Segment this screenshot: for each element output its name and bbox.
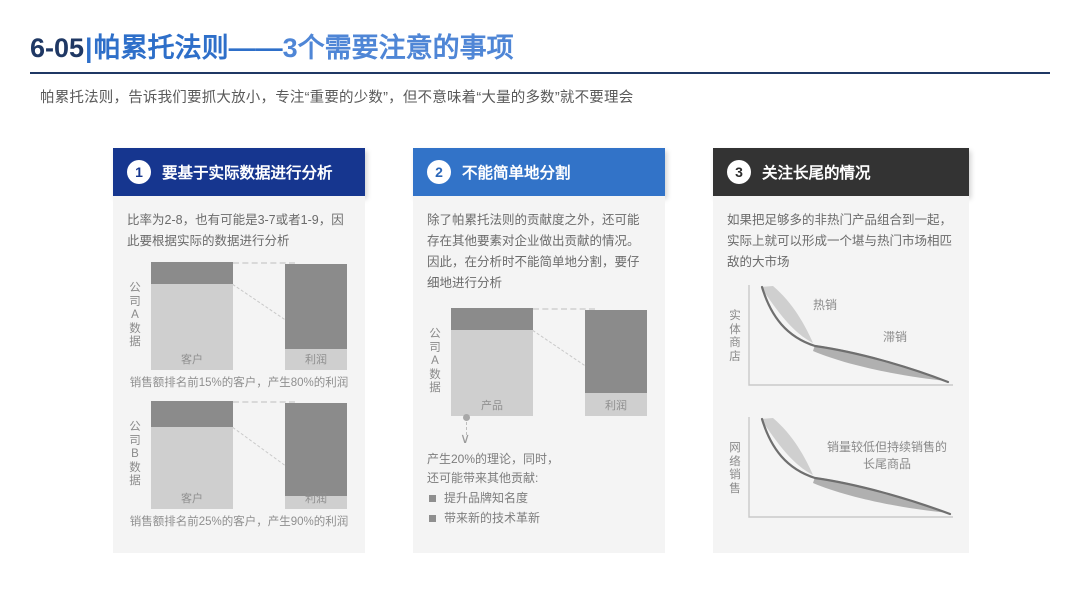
card-2-chart-bar-profit: 利润 xyxy=(585,310,647,416)
card-1-chart-a-caption: 销售额排名前15%的客户，产生80%的利润 xyxy=(127,375,351,391)
page-subtitle: 帕累托法则，告诉我们要抓大放小，专注“重要的少数”，但不意味着“大量的多数”就不… xyxy=(40,86,633,107)
card-2-chart-plot: 产品 利润 xyxy=(447,308,651,416)
card-2-chart-bar-product: 产品 xyxy=(451,308,533,416)
card-2-bullet-2: 带来新的技术革新 xyxy=(427,508,651,528)
card-2: 2 不能简单地分割 除了帕累托法则的贡献度之外，还可能存在其他要素对企业做出贡献… xyxy=(413,148,665,553)
page-title-main: 帕累托法则—— xyxy=(94,33,283,63)
card-1-chart-a-ylabel: 公司A数据 xyxy=(127,282,143,350)
card-1-chart-a-bar-customers-label: 客户 xyxy=(151,351,233,367)
card-1-chart-a-bar-customers: 客户 xyxy=(151,262,233,370)
card-1-chart-a: 公司A数据 客户 利润 xyxy=(127,262,351,370)
card-1-chart-a-bar-profit-label: 利润 xyxy=(285,351,347,367)
card-2-note-line-1: 产生20%的理论，同时， xyxy=(427,450,651,469)
page-title: 6-05|帕累托法则——3个需要注意的事项 xyxy=(30,26,514,65)
card-1-chart-a-plot: 客户 利润 xyxy=(147,262,351,370)
card-3-body: 如果把足够多的非热门产品组合到一起，实际上就可以形成一个堪与热门市场相匹敌的大市… xyxy=(713,196,969,553)
page-title-number: 6-05 xyxy=(30,33,84,63)
card-1-chart-b-bar-profit: 利润 xyxy=(285,403,347,509)
card-1-chart-b-bar-profit-label: 利润 xyxy=(285,490,347,506)
card-3-chart-physical-ylabel: 实体商店 xyxy=(727,310,743,364)
card-3-chart-physical-label-cold: 滞销 xyxy=(883,329,907,346)
card-1-body: 比率为2-8，也有可能是3-7或者1-9，因此要根据实际的数据进行分析 公司A数… xyxy=(113,196,365,553)
card-1: 1 要基于实际数据进行分析 比率为2-8，也有可能是3-7或者1-9，因此要根据… xyxy=(113,148,365,553)
card-1-header: 1 要基于实际数据进行分析 xyxy=(113,148,365,196)
card-3-title: 关注长尾的情况 xyxy=(762,161,871,183)
card-1-chart-a-bar-profit: 利润 xyxy=(285,264,347,370)
card-3-chart-online-plot: 销量较低但持续销售的长尾商品 xyxy=(747,413,955,525)
card-2-badge: 2 xyxy=(427,160,451,184)
card-3-chart-online-note: 销量较低但持续销售的长尾商品 xyxy=(825,439,949,473)
card-2-notes: 产生20%的理论，同时， 还可能带来其他贡献: 提升品牌知名度 带来新的技术革新 xyxy=(427,450,651,528)
card-3-badge: 3 xyxy=(727,160,751,184)
card-3-chart-online-ylabel: 网络销售 xyxy=(727,442,743,496)
connector-dot-icon xyxy=(463,414,470,421)
card-1-chart-b-caption: 销售额排名前25%的客户，产生90%的利润 xyxy=(127,514,351,530)
card-2-chart-ylabel: 公司A数据 xyxy=(427,328,443,396)
card-1-chart-b: 公司B数据 客户 利润 xyxy=(127,401,351,509)
card-2-header: 2 不能简单地分割 xyxy=(413,148,665,196)
card-1-chart-b-ylabel: 公司B数据 xyxy=(127,421,143,489)
card-2-note-line-2: 还可能带来其他贡献: xyxy=(427,469,651,488)
card-1-paragraph: 比率为2-8，也有可能是3-7或者1-9，因此要根据实际的数据进行分析 xyxy=(127,210,351,252)
card-2-title: 不能简单地分割 xyxy=(462,161,571,183)
bullet-square-icon xyxy=(429,495,436,502)
bullet-square-icon xyxy=(429,515,436,522)
card-1-chart-b-plot: 客户 利润 xyxy=(147,401,351,509)
long-tail-curve-graphic xyxy=(747,281,955,393)
title-divider-rule xyxy=(30,72,1050,74)
card-3-chart-online: 网络销售 销量较低但持续销售的长尾商品 xyxy=(727,413,955,525)
card-2-chart-bar-profit-label: 利润 xyxy=(585,397,647,413)
card-2-chart: 公司A数据 产品 利润 xyxy=(427,308,651,416)
card-2-body: 除了帕累托法则的贡献度之外，还可能存在其他要素对企业做出贡献的情况。因此，在分析… xyxy=(413,196,665,553)
card-1-badge: 1 xyxy=(127,160,151,184)
card-3-chart-physical-label-hot: 热销 xyxy=(813,297,837,314)
card-3-chart-physical: 实体商店 热销 滞销 xyxy=(727,281,955,393)
card-2-paragraph: 除了帕累托法则的贡献度之外，还可能存在其他要素对企业做出贡献的情况。因此，在分析… xyxy=(427,210,651,294)
card-3-paragraph: 如果把足够多的非热门产品组合到一起，实际上就可以形成一个堪与热门市场相匹敌的大市… xyxy=(727,210,955,273)
card-1-chart-b-bar-customers-label: 客户 xyxy=(151,490,233,506)
chevron-down-icon: ∨ xyxy=(460,432,470,444)
card-2-bullet-2-label: 带来新的技术革新 xyxy=(444,508,540,528)
card-2-bullet-1-label: 提升品牌知名度 xyxy=(444,488,528,508)
card-2-chart-bar-product-label: 产品 xyxy=(451,397,533,413)
card-3-header: 3 关注长尾的情况 xyxy=(713,148,969,196)
card-3: 3 关注长尾的情况 如果把足够多的非热门产品组合到一起，实际上就可以形成一个堪与… xyxy=(713,148,969,553)
card-2-bullet-1: 提升品牌知名度 xyxy=(427,488,651,508)
card-3-chart-physical-plot: 热销 滞销 xyxy=(747,281,955,393)
card-2-arrow-connector: ∨ xyxy=(463,414,651,448)
page-title-divider: | xyxy=(85,33,93,63)
card-1-chart-b-bar-customers: 客户 xyxy=(151,401,233,509)
page-title-sub: 3个需要注意的事项 xyxy=(283,33,514,63)
card-1-title: 要基于实际数据进行分析 xyxy=(162,161,333,183)
